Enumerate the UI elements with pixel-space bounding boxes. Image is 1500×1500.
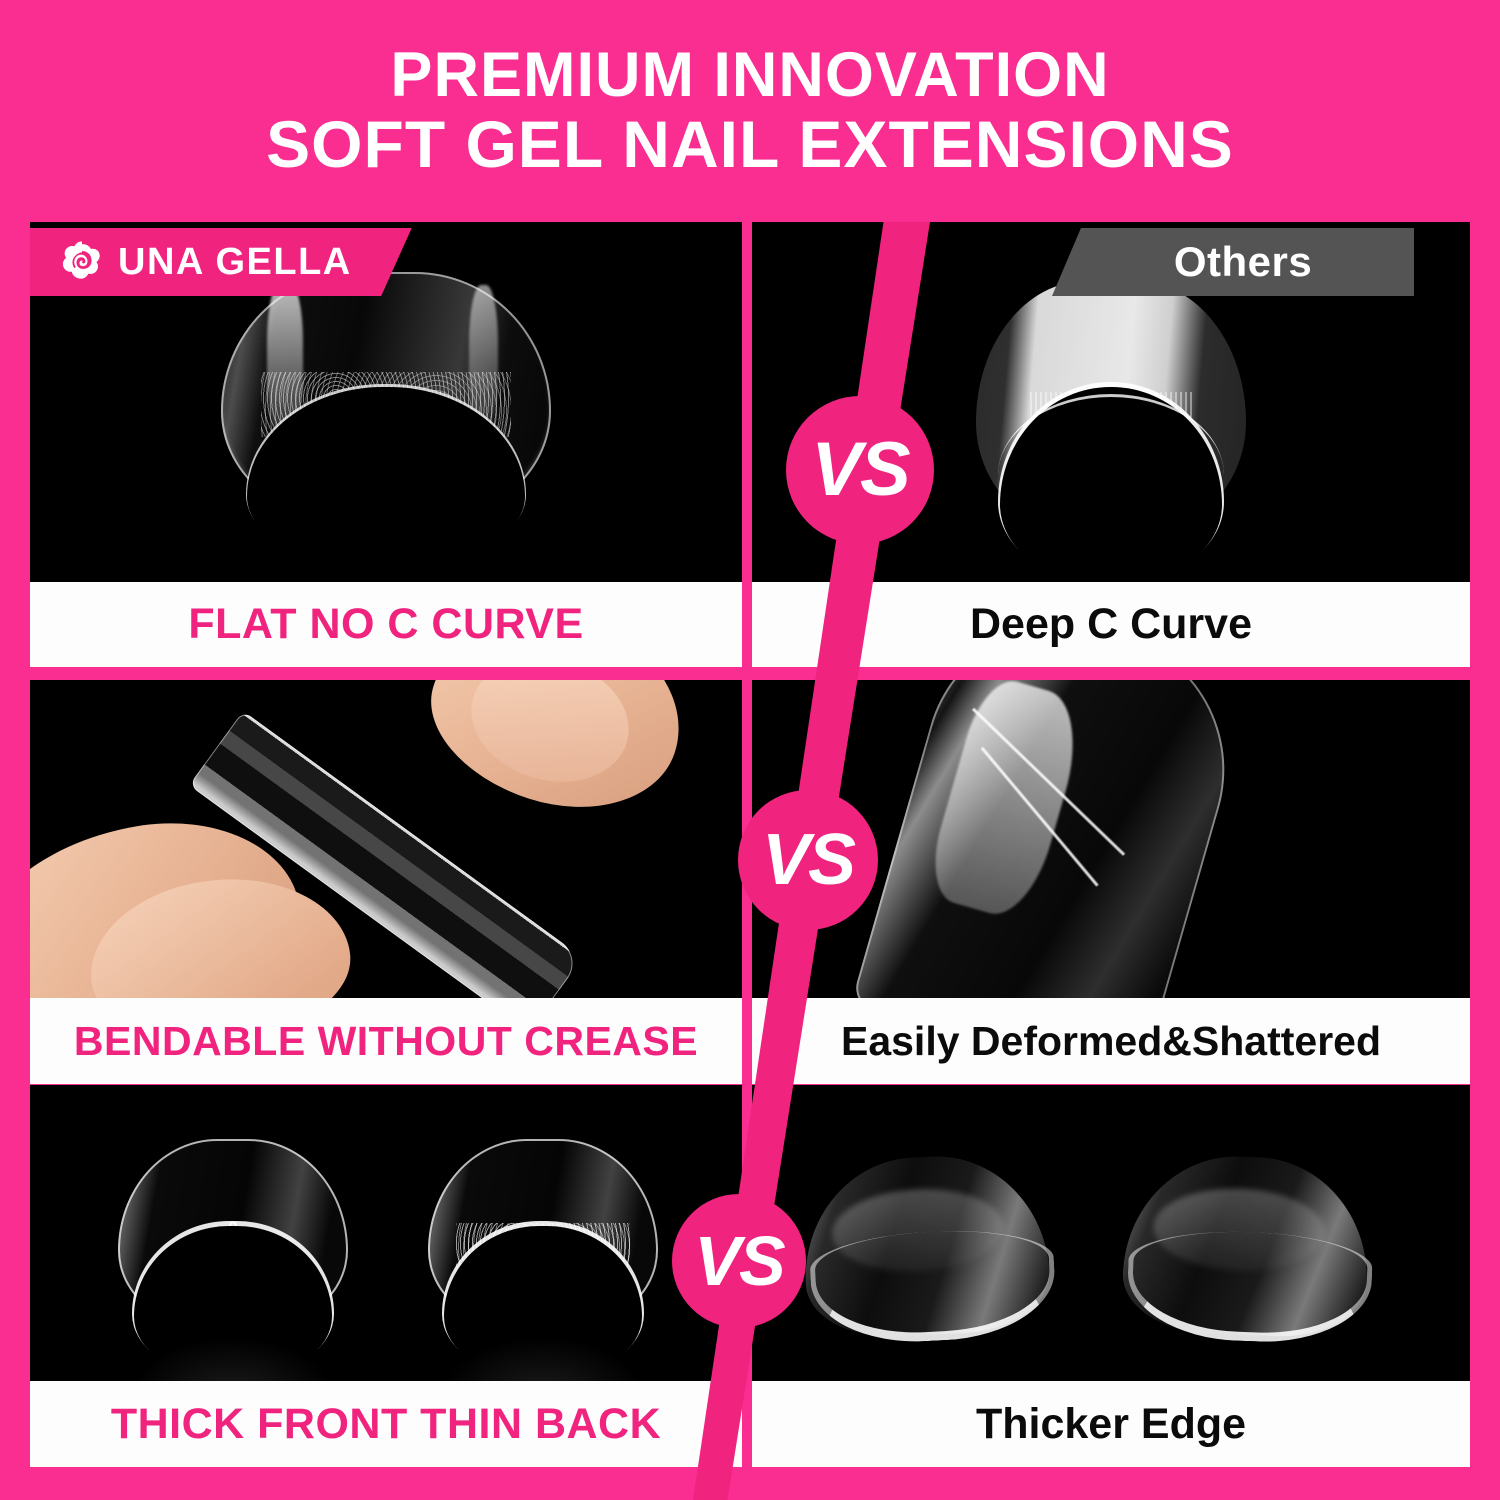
- vs-label: VS: [811, 432, 908, 508]
- caption-text: THICK FRONT THIN BACK: [111, 1403, 661, 1446]
- rose-icon: [60, 240, 104, 284]
- caption-ours-row-1: FLAT NO C CURVE: [30, 582, 742, 667]
- thick-edge-tip-illustration: [1121, 1153, 1371, 1339]
- vs-badge-row-3: VS: [672, 1194, 806, 1328]
- vs-badge-row-1: VS: [786, 396, 934, 544]
- caption-text: FLAT NO C CURVE: [188, 603, 583, 646]
- nail-tip-flat-illustration: [221, 272, 551, 522]
- caption-text: Thicker Edge: [976, 1403, 1246, 1446]
- vs-label: VS: [762, 824, 854, 896]
- page-header: PREMIUM INNOVATION SOFT GEL NAIL EXTENSI…: [0, 0, 1500, 222]
- product-photo-thicker-edge: [752, 1085, 1470, 1381]
- caption-theirs-row-3: Thicker Edge: [752, 1381, 1470, 1467]
- caption-ours-row-3: THICK FRONT THIN BACK: [30, 1381, 742, 1467]
- caption-text: Deep C Curve: [970, 603, 1252, 646]
- brand-tag-una-gella: UNA GELLA: [30, 228, 412, 296]
- caption-text: Easily Deformed&Shattered: [841, 1021, 1381, 1062]
- product-photo-bendable: [30, 680, 742, 998]
- ours-cell-row-2: BENDABLE WITHOUT CREASE: [30, 680, 742, 1084]
- caption-theirs-row-1: Deep C Curve: [752, 582, 1470, 667]
- nail-tip-back-view-illustration: 0: [118, 1139, 348, 1329]
- page-title-line-1: PREMIUM INNOVATION: [390, 43, 1109, 109]
- ours-cell-row-3: 0 THICK FRONT THIN BACK: [30, 1085, 742, 1467]
- caption-text: BENDABLE WITHOUT CREASE: [74, 1021, 698, 1062]
- deformed-nail-tip-illustration: [850, 680, 1257, 998]
- nail-tip-front-view-illustration: [428, 1139, 658, 1329]
- vs-badge-row-2: VS: [738, 790, 878, 930]
- others-tag: Others: [1052, 228, 1414, 296]
- others-label: Others: [1174, 238, 1312, 286]
- caption-ours-row-2: BENDABLE WITHOUT CREASE: [30, 998, 742, 1084]
- vs-label: VS: [694, 1226, 783, 1296]
- thick-edge-tip-illustration: [800, 1151, 1053, 1342]
- page-title-line-2: SOFT GEL NAIL EXTENSIONS: [266, 110, 1234, 179]
- caption-theirs-row-2: Easily Deformed&Shattered: [752, 998, 1470, 1084]
- theirs-cell-row-3: Thicker Edge: [752, 1085, 1470, 1467]
- brand-name-label: UNA GELLA: [118, 241, 352, 284]
- nail-tip-deep-curve-illustration: [976, 281, 1246, 533]
- product-photo-thick-front-thin-back: 0: [30, 1085, 742, 1381]
